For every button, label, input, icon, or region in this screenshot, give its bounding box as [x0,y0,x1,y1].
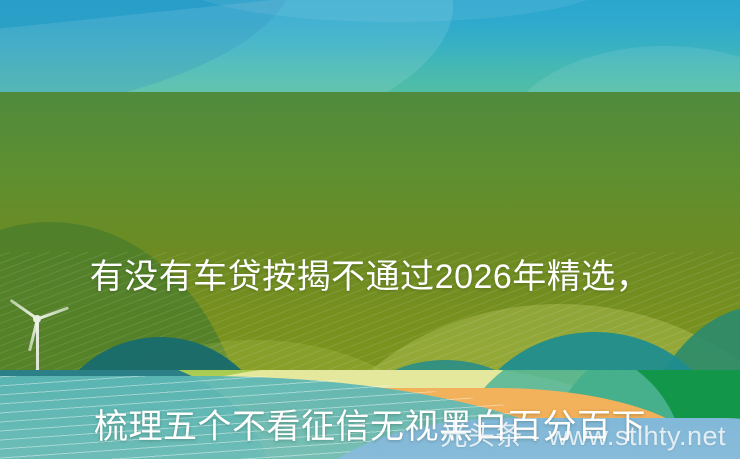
sky-wave-shape-right [500,46,740,92]
article-cover-image: 有没有车贷按揭不通过2026年精选， 梳理五个不看征信无视黑白百分百下 款网贷软… [0,0,740,459]
sky-background [0,0,740,92]
page-title: 有没有车贷按揭不通过2026年精选， 梳理五个不看征信无视黑白百分百下 款网贷软… [0,152,740,459]
title-line-1: 有没有车贷按揭不通过2026年精选， [0,252,740,302]
watermark-text: 光头条 - www.stlhty.net [440,414,726,453]
